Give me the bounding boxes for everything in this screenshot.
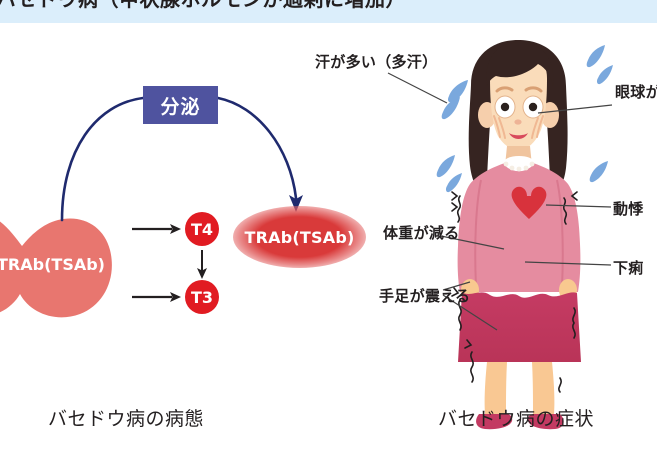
figure-collar <box>503 156 535 171</box>
callout-diarrhea: 下痢 <box>613 259 644 278</box>
figure-skirt <box>458 292 581 362</box>
secretion-arc-right <box>218 98 303 212</box>
arrow-gland-to-t4 <box>132 224 181 234</box>
caption-pathophysiology: バセドウ病の病態 <box>48 404 204 431</box>
hormone-t3-circle: T3 <box>185 280 219 314</box>
hormone-t4-label: T4 <box>191 220 213 239</box>
page-title: バセドウ病（甲状腺ホルモンが過剰に増加） <box>0 0 406 11</box>
figure-neck <box>505 146 532 166</box>
callout-exophthalmos: 眼球が\n突出す <box>615 83 657 102</box>
antibody-cloud: TRAb(TSAb) <box>233 206 366 268</box>
arrow-gland-to-t3 <box>132 292 181 302</box>
callout-palpitations: 動悸 <box>613 200 644 219</box>
antibody-cloud-label: TRAb(TSAb) <box>245 228 355 247</box>
figure-eyebrows <box>497 88 541 91</box>
arrow-t4-to-t3 <box>197 250 207 279</box>
secretion-box: 分泌 <box>143 86 218 124</box>
header-band: バセドウ病（甲状腺ホルモンが過剰に増加） <box>0 0 657 23</box>
sweat-drop-icon-group <box>437 45 613 192</box>
callout-tremor: 手足が震える <box>379 287 470 306</box>
figure-eyes <box>495 96 543 118</box>
figure-sweater <box>458 163 581 292</box>
diagram-page: バセドウ病（甲状腺ホルモンが過剰に増加） <box>0 0 657 450</box>
figure-hands <box>461 279 577 301</box>
figure-heart-icon <box>512 187 547 219</box>
figure-nose <box>514 119 521 124</box>
secretion-label: 分泌 <box>160 92 200 119</box>
caption-symptoms: バセドウ病の症状 <box>438 404 594 431</box>
thyroid-gland-label: TRAb(TSAb) <box>0 255 116 274</box>
hormone-t3-label: T3 <box>191 288 213 307</box>
figure-mouth <box>509 133 528 139</box>
figure-hair-fringe <box>486 42 553 86</box>
callout-sweating: 汗が多い（多汗） <box>315 53 437 72</box>
figure-hair-back <box>469 40 568 196</box>
callout-weight-loss: 体重が減る <box>383 224 460 243</box>
secretion-arc-left <box>62 98 143 220</box>
hormone-t4-circle: T4 <box>185 212 219 246</box>
tremor-squiggle-icon-group <box>452 192 577 392</box>
figure-cheeks <box>494 116 543 138</box>
figure-ears <box>478 102 559 128</box>
figure-face <box>490 50 547 150</box>
